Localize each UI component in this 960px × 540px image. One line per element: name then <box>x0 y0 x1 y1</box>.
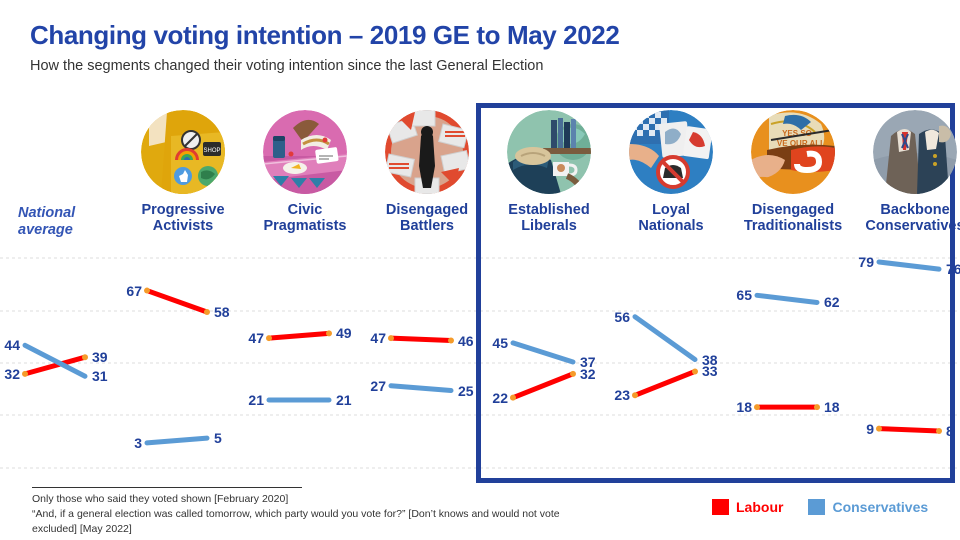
slope-line-civic-pragmatists-labour[interactable] <box>269 333 329 338</box>
value-label-national-average-conservatives-0: 44 <box>0 338 20 352</box>
slide-canvas: Changing voting intention – 2019 GE to M… <box>0 0 960 540</box>
legend-item-conservatives[interactable]: Conservatives <box>808 499 928 515</box>
legend-swatch-conservatives <box>808 499 825 515</box>
slope-line-disengaged-battlers-labour[interactable] <box>391 338 451 340</box>
segment-column-disengaged-battlers[interactable]: Disengaged Battlers <box>366 110 488 235</box>
civic-pragmatists-icon <box>263 110 347 194</box>
segment-label-disengaged-battlers: Disengaged Battlers <box>366 202 488 235</box>
data-point-civic-pragmatists-labour-1[interactable] <box>326 330 332 336</box>
data-point-national-average-labour-1[interactable] <box>82 354 88 360</box>
data-point-progressive-activists-labour-0[interactable] <box>144 288 150 294</box>
segment-label-disengaged-traditionalists: Disengaged Traditionalists <box>732 202 854 235</box>
slope-line-progressive-activists-labour[interactable] <box>147 291 207 312</box>
value-label-civic-pragmatists-conservatives-1: 21 <box>336 393 352 407</box>
data-point-progressive-activists-labour-1[interactable] <box>204 309 210 315</box>
segment-column-loyal-nationals[interactable]: Loyal Nationals <box>610 110 732 235</box>
progressive-activists-icon: SHOP <box>141 110 225 194</box>
legend-item-labour[interactable]: Labour <box>712 499 783 515</box>
segment-column-progressive-activists[interactable]: SHOP Progressive Activists <box>122 110 244 235</box>
data-point-disengaged-battlers-labour-0[interactable] <box>388 335 394 341</box>
segment-column-backbone-conservatives[interactable]: Backbone Conservatives <box>854 110 960 235</box>
backbone-conservatives-icon <box>873 110 957 194</box>
segment-label-progressive-activists: Progressive Activists <box>122 202 244 235</box>
data-point-disengaged-battlers-labour-1[interactable] <box>448 338 454 344</box>
legend-label-labour: Labour <box>736 499 783 515</box>
value-label-civic-pragmatists-labour-1: 49 <box>336 326 352 340</box>
segment-column-disengaged-traditionalists[interactable]: YES SO VE OUR ALL Disengaged Traditional… <box>732 110 854 235</box>
value-label-national-average-labour-0: 32 <box>0 367 20 381</box>
data-point-civic-pragmatists-labour-0[interactable] <box>266 335 272 341</box>
data-point-national-average-labour-0[interactable] <box>22 371 28 377</box>
loyal-nationals-icon <box>629 110 713 194</box>
value-label-disengaged-battlers-conservatives-1: 25 <box>458 384 474 398</box>
value-label-disengaged-battlers-labour-0: 47 <box>364 331 386 345</box>
segment-label-backbone-conservatives: Backbone Conservatives <box>854 202 960 235</box>
value-label-disengaged-battlers-labour-1: 46 <box>458 334 474 348</box>
footnote-divider <box>32 487 302 488</box>
value-label-progressive-activists-labour-0: 67 <box>120 284 142 298</box>
disengaged-battlers-icon <box>385 110 469 194</box>
value-label-progressive-activists-labour-1: 58 <box>214 305 230 319</box>
disengaged-traditionalists-icon: YES SO VE OUR ALL <box>751 110 835 194</box>
value-label-civic-pragmatists-conservatives-0: 21 <box>242 393 264 407</box>
slope-line-disengaged-battlers-conservatives[interactable] <box>391 386 451 391</box>
segment-column-civic-pragmatists[interactable]: Civic Pragmatists <box>244 110 366 235</box>
footnote-text: Only those who said they voted shown [Fe… <box>32 492 592 538</box>
value-label-national-average-labour-1: 39 <box>92 350 108 364</box>
value-label-progressive-activists-conservatives-0: 3 <box>120 436 142 450</box>
established-liberals-icon <box>507 110 591 194</box>
slope-line-progressive-activists-conservatives[interactable] <box>147 438 207 443</box>
segment-column-established-liberals[interactable]: Established Liberals <box>488 110 610 235</box>
chart-legend: Labour Conservatives <box>712 499 928 515</box>
value-label-disengaged-battlers-conservatives-0: 27 <box>364 379 386 393</box>
segment-label-established-liberals: Established Liberals <box>488 202 610 235</box>
value-label-civic-pragmatists-labour-0: 47 <box>242 331 264 345</box>
segment-label-loyal-nationals: Loyal Nationals <box>610 202 732 235</box>
national-average-label: National average <box>18 205 120 239</box>
value-label-national-average-conservatives-1: 31 <box>92 369 108 383</box>
value-label-progressive-activists-conservatives-1: 5 <box>214 431 222 445</box>
svg-text:SHOP: SHOP <box>203 148 220 154</box>
legend-swatch-labour <box>712 499 729 515</box>
legend-label-conservatives: Conservatives <box>832 499 928 515</box>
segment-label-civic-pragmatists: Civic Pragmatists <box>244 202 366 235</box>
